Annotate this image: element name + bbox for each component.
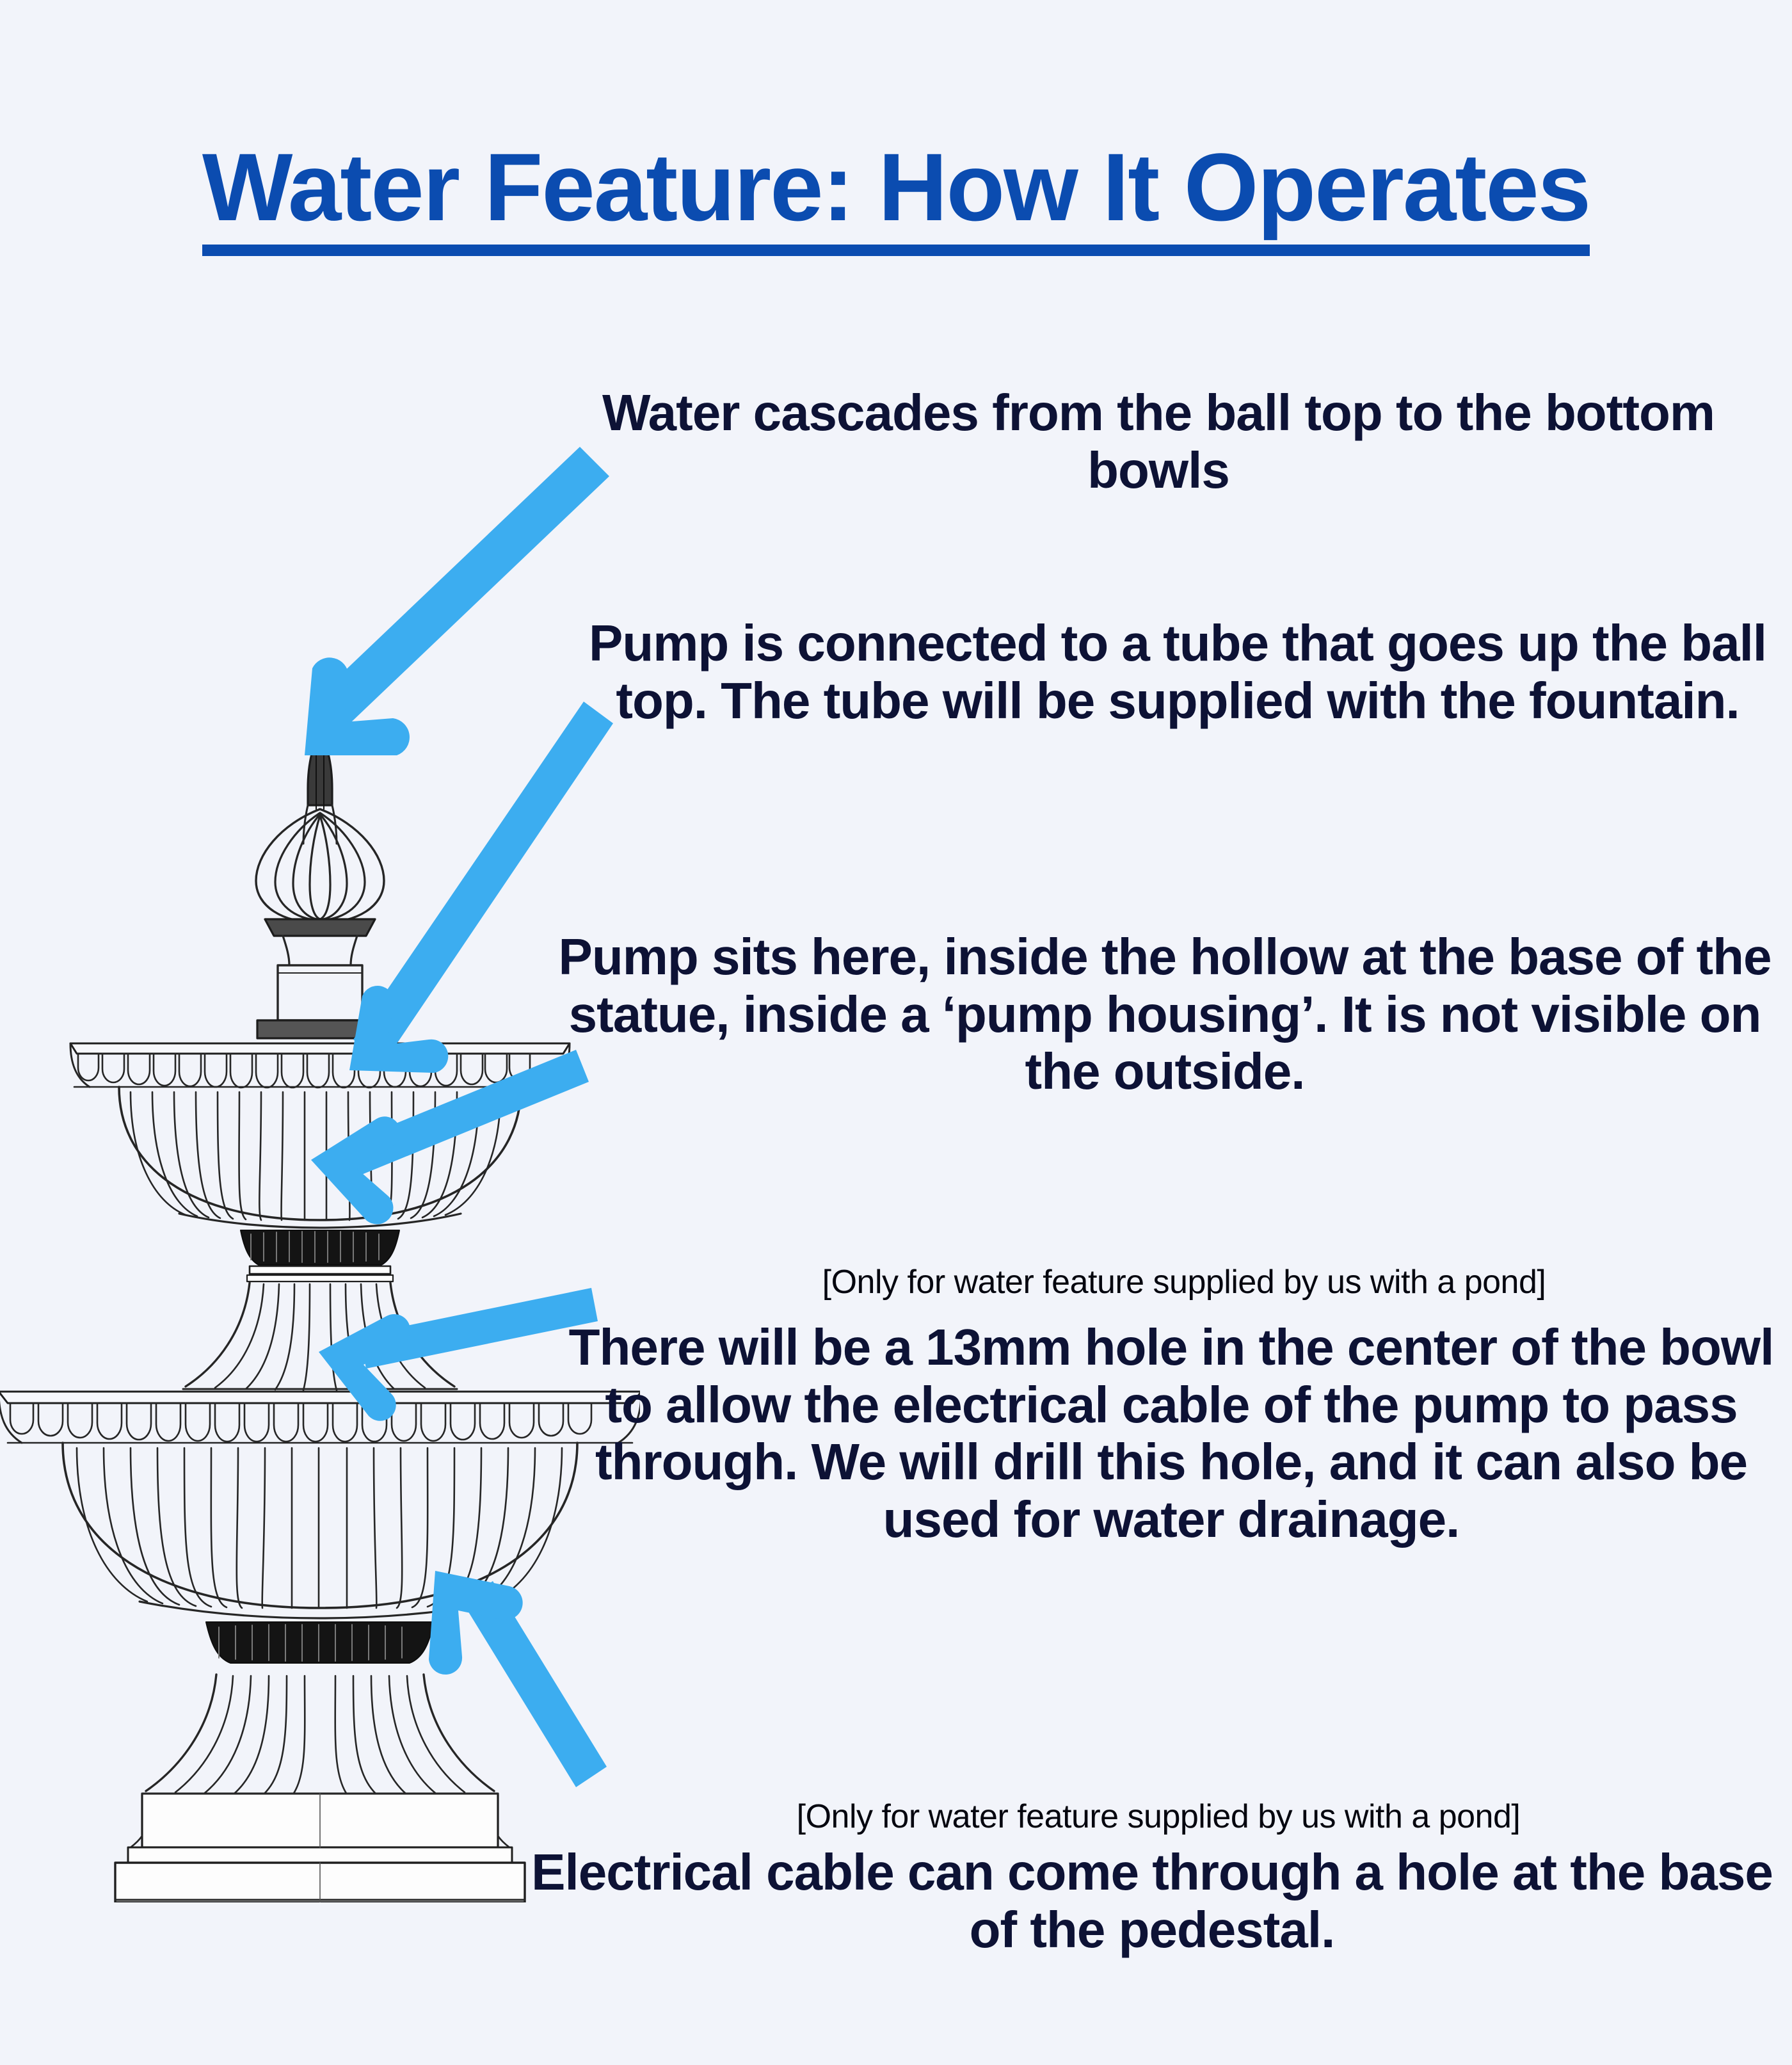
lower-stem-flare (146, 1675, 494, 1794)
annotation-note-cable-base: [Only for water feature supplied by us w… (550, 1799, 1766, 1835)
annotation-text-cascade: Water cascades from the ball top to the … (525, 384, 1792, 499)
upper-bowl-stem (183, 1230, 457, 1390)
annotation-text-pump-location: Pump sits here, inside the hollow at the… (538, 928, 1792, 1100)
pedestal-plinth (115, 1794, 525, 1902)
page-title: Water Feature: How It Operates (0, 137, 1792, 238)
page-title-text: Water Feature: How It Operates (202, 133, 1590, 256)
annotation-text-cable-base: Electrical cable can come through a hole… (525, 1844, 1779, 1958)
lower-bowl (0, 1392, 640, 1618)
fountain-svg (0, 743, 640, 1664)
annotation-text-pump-tube: Pump is connected to a tube that goes up… (563, 615, 1792, 729)
annotation-text-drain-hole: There will be a 13mm hole in the center … (550, 1319, 1792, 1548)
infographic-page: Water Feature: How It Operates (0, 0, 1792, 2065)
upper-bowl (70, 1043, 570, 1228)
lower-bowl-stem (206, 1622, 434, 1664)
annotation-note-drain-hole: [Only for water feature supplied by us w… (576, 1264, 1792, 1301)
ball-top-finial (256, 754, 384, 1038)
fountain-illustration (0, 743, 640, 1664)
